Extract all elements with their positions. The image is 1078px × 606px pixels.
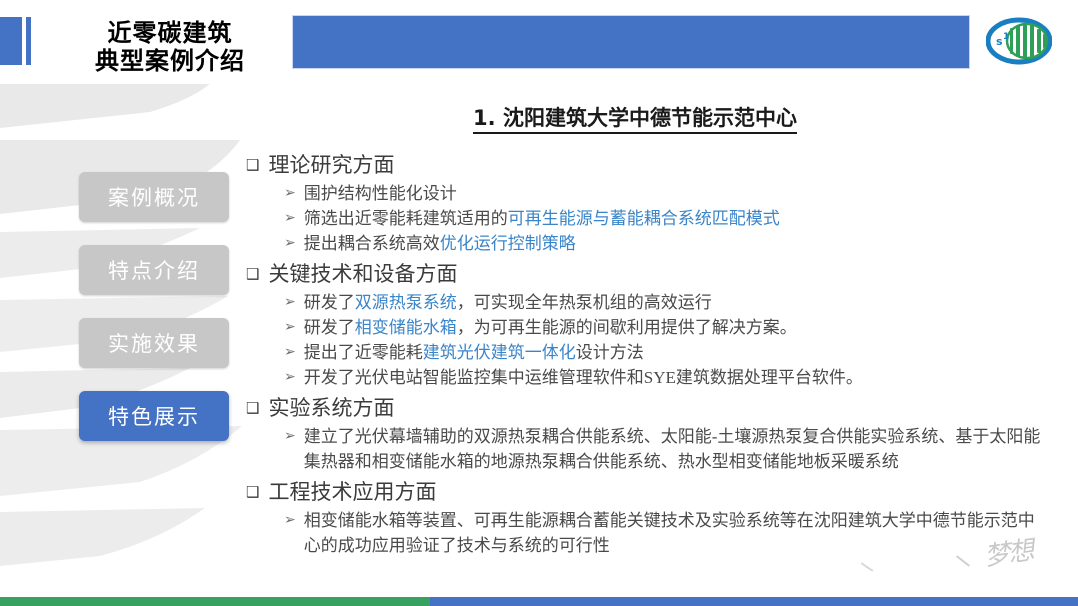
bullet-highlight-text: 建筑光伏建筑一体化 [423,343,576,362]
sidebar-item-label: 特点介绍 [108,255,200,285]
university-logo-icon: s 1 [986,17,1052,65]
bullet-item: ➢开发了光伏电站智能监控集中运维管理软件和SYE建筑数据处理平台软件。 [284,365,1046,390]
sidebar-item-label: 实施效果 [108,328,200,358]
bullet-highlight-text: 可再生能源与蓄能耦合系统匹配模式 [508,209,780,228]
bullet-plain-text: 设计方法 [576,343,644,362]
svg-text:1: 1 [1003,32,1009,42]
bullet-text: 提出耦合系统高效优化运行控制策略 [304,231,1046,256]
slide: 近零碳建筑 典型案例介绍 s 1 案例概况 特点介绍 [0,0,1078,606]
bullet-item: ➢筛选出近零能耗建筑适用的可再生能源与蓄能耦合系统匹配模式 [284,206,1046,231]
sidebar-item-label: 特色展示 [108,401,200,431]
section-bullet-list: ➢围护结构性能化设计➢筛选出近零能耗建筑适用的可再生能源与蓄能耦合系统匹配模式➢… [284,181,1046,256]
bullet-highlight-text: 优化运行控制策略 [440,234,576,253]
bullet-plain-text: 提出耦合系统高效 [304,234,440,253]
bullet-highlight-text: 双源热泵系统 [355,293,457,312]
section-title: ❑关键技术和设备方面 [246,259,1046,289]
bullet-item: ➢相变储能水箱等装置、可再生能源耦合蓄能关键技术及实验系统等在沈阳建筑大学中德节… [284,508,1046,558]
bullet-plain-text: 建立了光伏幕墙辅助的双源热泵耦合供能系统、太阳能-土壤源热泵复合供能实验系统、基… [304,427,1041,471]
bullet-plain-text: ，为可再生能源的间歇利用提供了解决方案。 [457,318,797,337]
bullet-text: 相变储能水箱等装置、可再生能源耦合蓄能关键技术及实验系统等在沈阳建筑大学中德节能… [304,508,1046,558]
section-bullet-list: ➢相变储能水箱等装置、可再生能源耦合蓄能关键技术及实验系统等在沈阳建筑大学中德节… [284,508,1046,558]
square-bullet-icon: ❑ [246,259,259,289]
bullet-plain-text: 相变储能水箱等装置、可再生能源耦合蓄能关键技术及实验系统等在沈阳建筑大学中德节能… [304,511,1035,555]
arrow-bullet-icon: ➢ [284,206,296,231]
arrow-bullet-icon: ➢ [284,340,296,365]
section-title-text: 理论研究方面 [268,150,394,180]
sidebar-item-label: 案例概况 [108,182,200,212]
bullet-text: 开发了光伏电站智能监控集中运维管理软件和SYE建筑数据处理平台软件。 [304,365,1046,390]
bullet-text: 筛选出近零能耗建筑适用的可再生能源与蓄能耦合系统匹配模式 [304,206,1046,231]
bullet-text: 研发了相变储能水箱，为可再生能源的间歇利用提供了解决方案。 [304,315,1046,340]
deck-title-line2: 典型案例介绍 [60,47,280,75]
square-bullet-icon: ❑ [246,393,259,423]
square-bullet-icon: ❑ [246,150,259,180]
bullet-highlight-text: 相变储能水箱 [355,318,457,337]
arrow-bullet-icon: ➢ [284,508,296,533]
content-section: ❑工程技术应用方面➢相变储能水箱等装置、可再生能源耦合蓄能关键技术及实验系统等在… [246,477,1046,558]
section-title: ❑理论研究方面 [246,150,1046,180]
bullet-plain-text: 筛选出近零能耗建筑适用的 [304,209,508,228]
section-title: ❑工程技术应用方面 [246,477,1046,507]
footer-bar-green [0,597,430,606]
square-bullet-icon: ❑ [246,477,259,507]
content-body: ❑理论研究方面➢围护结构性能化设计➢筛选出近零能耗建筑适用的可再生能源与蓄能耦合… [246,150,1046,561]
bullet-plain-text: ，可实现全年热泵机组的高效运行 [457,293,712,312]
sidebar-item-feature-intro[interactable]: 特点介绍 [79,245,229,295]
header-accent-block [0,17,22,65]
page-title-text: 1. 沈阳建筑大学中德节能示范中心 [473,106,797,134]
bullet-item: ➢提出耦合系统高效优化运行控制策略 [284,231,1046,256]
content-section: ❑实验系统方面➢建立了光伏幕墙辅助的双源热泵耦合供能系统、太阳能-土壤源热泵复合… [246,393,1046,474]
page-title: 1. 沈阳建筑大学中德节能示范中心 [245,102,1025,132]
sidebar-item-feature-showcase[interactable]: 特色展示 [79,391,229,441]
bullet-text: 围护结构性能化设计 [304,181,1046,206]
bullet-plain-text: 围护结构性能化设计 [304,184,457,203]
bullet-text: 研发了双源热泵系统，可实现全年热泵机组的高效运行 [304,290,1046,315]
bullet-item: ➢建立了光伏幕墙辅助的双源热泵耦合供能系统、太阳能-土壤源热泵复合供能实验系统、… [284,424,1046,474]
section-title-text: 实验系统方面 [268,393,394,423]
deck-title-line1: 近零碳建筑 [60,19,280,47]
section-bullet-list: ➢研发了双源热泵系统，可实现全年热泵机组的高效运行➢研发了相变储能水箱，为可再生… [284,290,1046,390]
section-title-text: 关键技术和设备方面 [268,259,457,289]
arrow-bullet-icon: ➢ [284,315,296,340]
watermark-text: 梦想 [982,530,1035,573]
header-banner-bar [292,15,970,69]
bullet-item: ➢研发了双源热泵系统，可实现全年热泵机组的高效运行 [284,290,1046,315]
bullet-plain-text: 研发了 [304,318,355,337]
content-section: ❑关键技术和设备方面➢研发了双源热泵系统，可实现全年热泵机组的高效运行➢研发了相… [246,259,1046,390]
bullet-text: 提出了近零能耗建筑光伏建筑一体化设计方法 [304,340,1046,365]
bullet-text: 建立了光伏幕墙辅助的双源热泵耦合供能系统、太阳能-土壤源热泵复合供能实验系统、基… [304,424,1046,474]
bullet-item: ➢提出了近零能耗建筑光伏建筑一体化设计方法 [284,340,1046,365]
arrow-bullet-icon: ➢ [284,290,296,315]
content-section: ❑理论研究方面➢围护结构性能化设计➢筛选出近零能耗建筑适用的可再生能源与蓄能耦合… [246,150,1046,256]
sidebar-item-implementation-effect[interactable]: 实施效果 [79,318,229,368]
bullet-plain-text: 提出了近零能耗 [304,343,423,362]
bullet-item: ➢研发了相变储能水箱，为可再生能源的间歇利用提供了解决方案。 [284,315,1046,340]
arrow-bullet-icon: ➢ [284,365,296,390]
section-title: ❑实验系统方面 [246,393,1046,423]
bullet-plain-text: 开发了光伏电站智能监控集中运维管理软件和SYE建筑数据处理平台软件。 [304,368,863,387]
arrow-bullet-icon: ➢ [284,424,296,449]
header-accent-line [26,17,31,65]
watermark-stroke [861,562,874,571]
bullet-item: ➢围护结构性能化设计 [284,181,1046,206]
section-bullet-list: ➢建立了光伏幕墙辅助的双源热泵耦合供能系统、太阳能-土壤源热泵复合供能实验系统、… [284,424,1046,474]
deck-title: 近零碳建筑 典型案例介绍 [60,19,280,75]
sidebar-item-case-overview[interactable]: 案例概况 [79,172,229,222]
section-title-text: 工程技术应用方面 [268,477,436,507]
bullet-plain-text: 研发了 [304,293,355,312]
arrow-bullet-icon: ➢ [284,231,296,256]
arrow-bullet-icon: ➢ [284,181,296,206]
footer-bar-blue [430,597,1078,606]
sidebar-nav: 案例概况 特点介绍 实施效果 特色展示 [79,172,229,464]
svg-text:s: s [996,35,1003,48]
